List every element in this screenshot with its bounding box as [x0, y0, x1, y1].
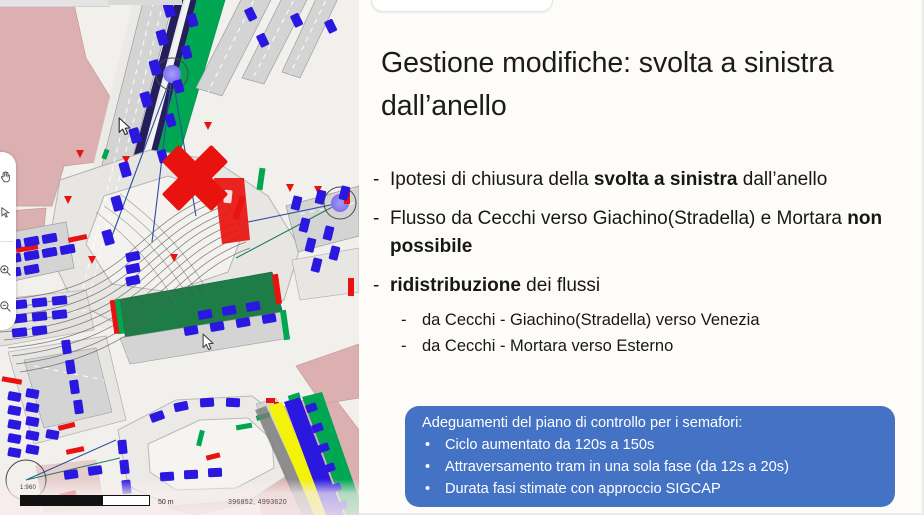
slide-content-pane: Gestione modifiche: svolta a sinistra da… [359, 0, 924, 515]
sub-bullet-text-2: da Cecchi - Mortara verso Esterno [422, 333, 918, 359]
sub-bullet-list: - da Cecchi - Giachino(Stradella) verso … [387, 307, 918, 359]
bullet-list: - Ipotesi di chiusura della svolta a sin… [373, 166, 918, 359]
page-title: Gestione modifiche: svolta a sinistra da… [381, 42, 906, 128]
bullet-text-3: ridistribuzione dei flussi [390, 272, 918, 300]
callout-list: • Ciclo aumentato da 120s a 150s • Attra… [417, 434, 883, 500]
window-chrome-strip-secondary [108, 0, 182, 5]
sub-bullet-dash: - [401, 307, 422, 333]
callout-item: • Durata fasi stimate con approccio SIGC… [417, 478, 883, 500]
traffic-simulation-viewport[interactable]: 1:960 50 m 396852, 4993620 [0, 0, 359, 515]
bullet-dash: - [373, 272, 390, 300]
pan-hand-icon[interactable] [0, 169, 13, 184]
toolbar-divider [0, 241, 13, 242]
callout-item-text-2: Attraversamento tram in una sola fase (d… [445, 456, 883, 478]
callout-item-text-3: Durata fasi stimate con approccio SIGCAP [445, 478, 883, 500]
map-tool-strip[interactable] [0, 152, 16, 330]
bullet-dot-icon: • [417, 478, 445, 500]
bullet-dash: - [373, 205, 390, 261]
signal-plan-callout: Adeguamenti del piano di controllo per i… [405, 406, 895, 507]
list-item: - ridistribuzione dei flussi [373, 272, 918, 300]
zoom-out-icon[interactable] [0, 299, 13, 314]
sub-bullet-text-1: da Cecchi - Giachino(Stradella) verso Ve… [422, 307, 918, 333]
window-chrome-strip [0, 0, 110, 7]
callout-item-text-1: Ciclo aumentato da 120s a 150s [445, 434, 883, 456]
bullet-text-1: Ipotesi di chiusura della svolta a sinis… [390, 166, 918, 194]
bullet-dot-icon: • [417, 456, 445, 478]
select-pointer-icon[interactable] [0, 205, 13, 220]
sub-bullet-dash: - [401, 333, 422, 359]
list-item: - Flusso da Cecchi verso Giachino(Strade… [373, 205, 918, 261]
floating-toolbar-pill[interactable] [371, 0, 553, 12]
sub-list-item: - da Cecchi - Mortara verso Esterno [387, 333, 918, 359]
callout-item: • Ciclo aumentato da 120s a 150s [417, 434, 883, 456]
sub-list-item: - da Cecchi - Giachino(Stradella) verso … [387, 307, 918, 333]
callout-item: • Attraversamento tram in una sola fase … [417, 456, 883, 478]
list-item: - Ipotesi di chiusura della svolta a sin… [373, 166, 918, 194]
bullet-dot-icon: • [417, 434, 445, 456]
bullet-dash: - [373, 166, 390, 194]
callout-heading: Adeguamenti del piano di controllo per i… [417, 413, 883, 434]
simulation-network-canvas[interactable] [0, 0, 359, 515]
screen: 1:960 50 m 396852, 4993620 Gestione modi… [0, 0, 924, 515]
bullet-text-2: Flusso da Cecchi verso Giachino(Stradell… [390, 205, 918, 261]
zoom-in-icon[interactable] [0, 263, 13, 278]
